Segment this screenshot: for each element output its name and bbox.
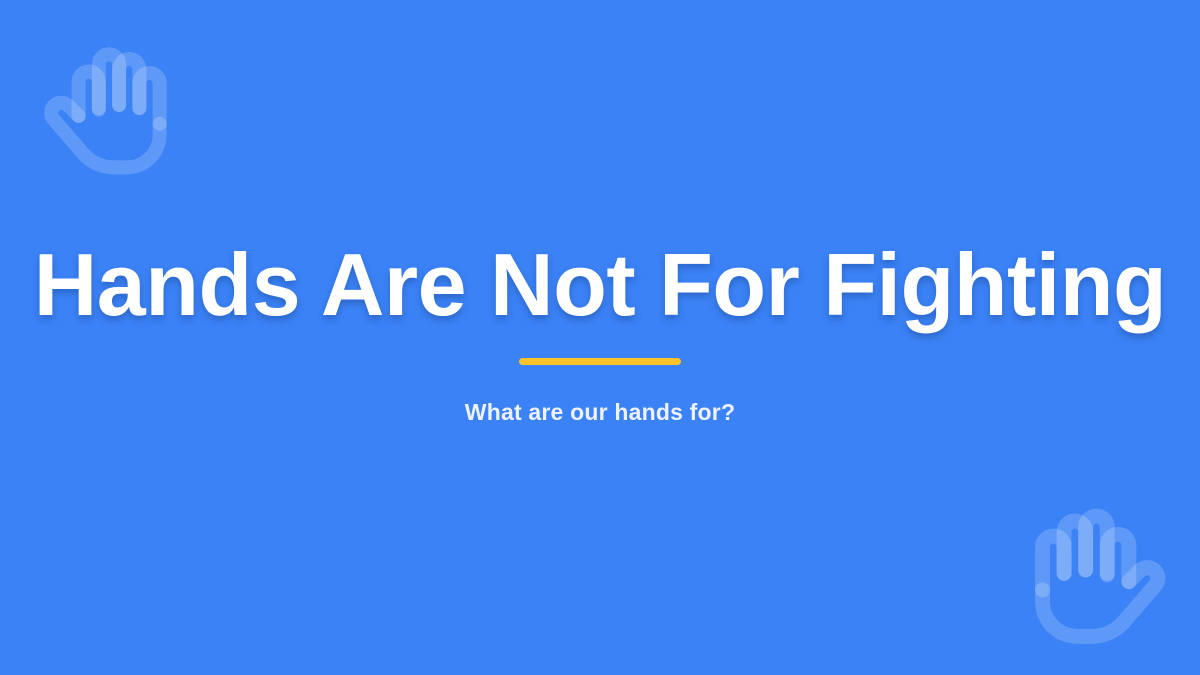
title-divider	[519, 358, 681, 365]
slide-content: Hands Are Not For Fighting What are our …	[0, 0, 1200, 675]
title-slide: Hands Are Not For Fighting What are our …	[0, 0, 1200, 675]
slide-subtitle: What are our hands for?	[465, 399, 735, 427]
page-title: Hands Are Not For Fighting	[34, 241, 1167, 329]
